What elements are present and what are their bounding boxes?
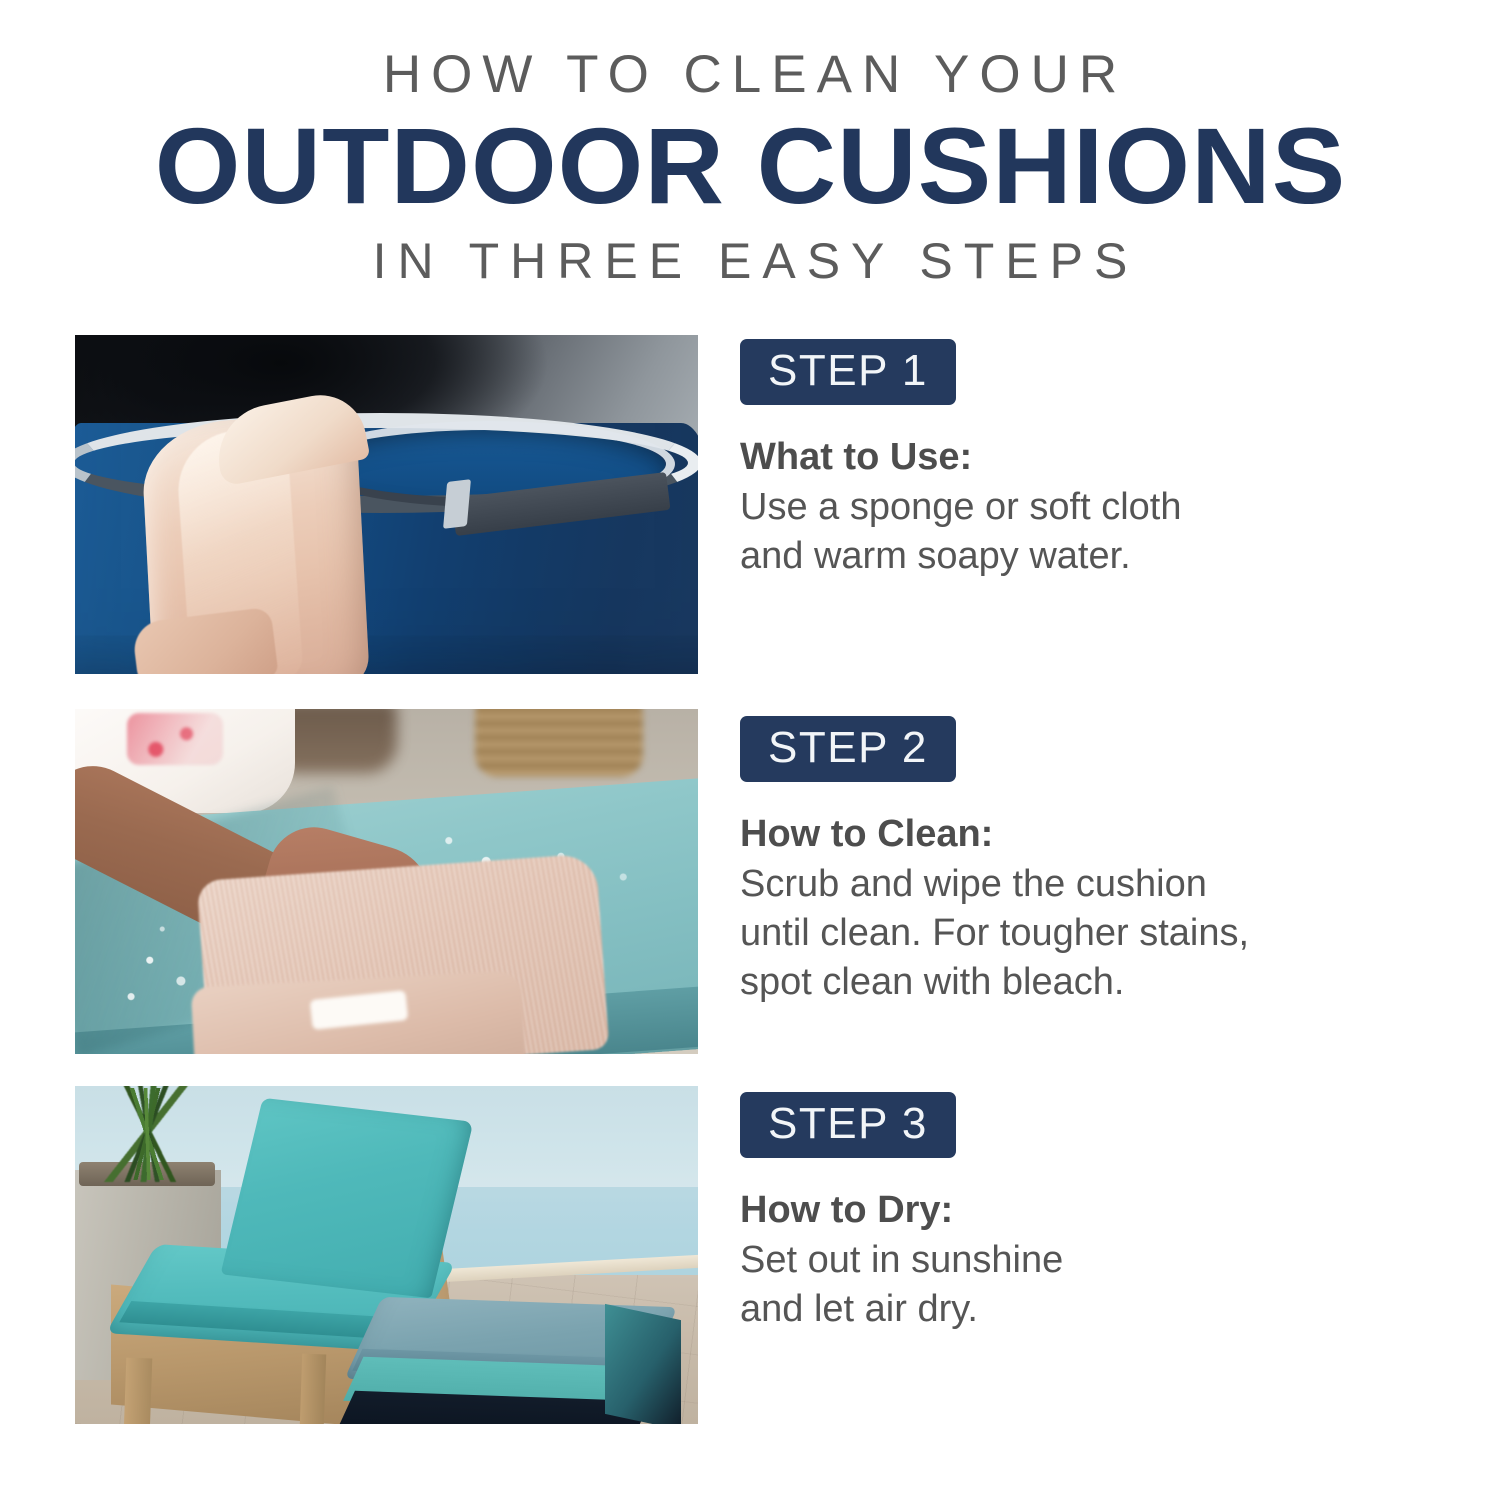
step-2-text-column: STEP 2 How to Clean: Scrub and wipe the … xyxy=(740,709,1425,1007)
shirt-palm-print xyxy=(127,713,223,765)
step-3-body: Set out in sunshine and let air dry. xyxy=(740,1236,1425,1334)
header-eyebrow: HOW TO CLEAN YOUR xyxy=(0,44,1500,106)
page-title: OUTDOOR CUSHIONS xyxy=(0,110,1500,222)
bucket-with-cloth-photo xyxy=(75,335,698,674)
background-basket xyxy=(475,709,643,777)
step-2-subheading: How to Clean: xyxy=(740,810,1425,858)
chaise-back-cushion xyxy=(221,1098,474,1298)
step-3-text-column: STEP 3 How to Dry: Set out in sunshine a… xyxy=(740,1086,1425,1334)
agave-plant-front-leaves xyxy=(91,1088,207,1180)
wiping-cushion-photo xyxy=(75,709,698,1054)
infographic-page: HOW TO CLEAN YOUR OUTDOOR CUSHIONS IN TH… xyxy=(0,0,1500,1500)
step-1-subheading: What to Use: xyxy=(740,433,1425,481)
step-3-badge: STEP 3 xyxy=(740,1092,956,1158)
step-1-badge: STEP 1 xyxy=(740,339,956,405)
step-2-body: Scrub and wipe the cushion until clean. … xyxy=(740,860,1425,1007)
chaise-lounge-drying-photo xyxy=(75,1086,698,1424)
step-1-text-column: STEP 1 What to Use: Use a sponge or soft… xyxy=(740,335,1425,581)
step-1-body: Use a sponge or soft cloth and warm soap… xyxy=(740,483,1425,581)
header-subtitle: IN THREE EASY STEPS xyxy=(0,232,1500,290)
step-2-badge: STEP 2 xyxy=(740,716,956,782)
bucket-handle-clip-end xyxy=(443,479,471,529)
page-header: HOW TO CLEAN YOUR OUTDOOR CUSHIONS IN TH… xyxy=(0,0,1500,290)
chaise-front-leg xyxy=(124,1358,153,1424)
step-3-subheading: How to Dry: xyxy=(740,1186,1425,1234)
stacked-cushion-side-faces xyxy=(605,1304,681,1424)
chaise-rear-leg xyxy=(300,1354,326,1424)
